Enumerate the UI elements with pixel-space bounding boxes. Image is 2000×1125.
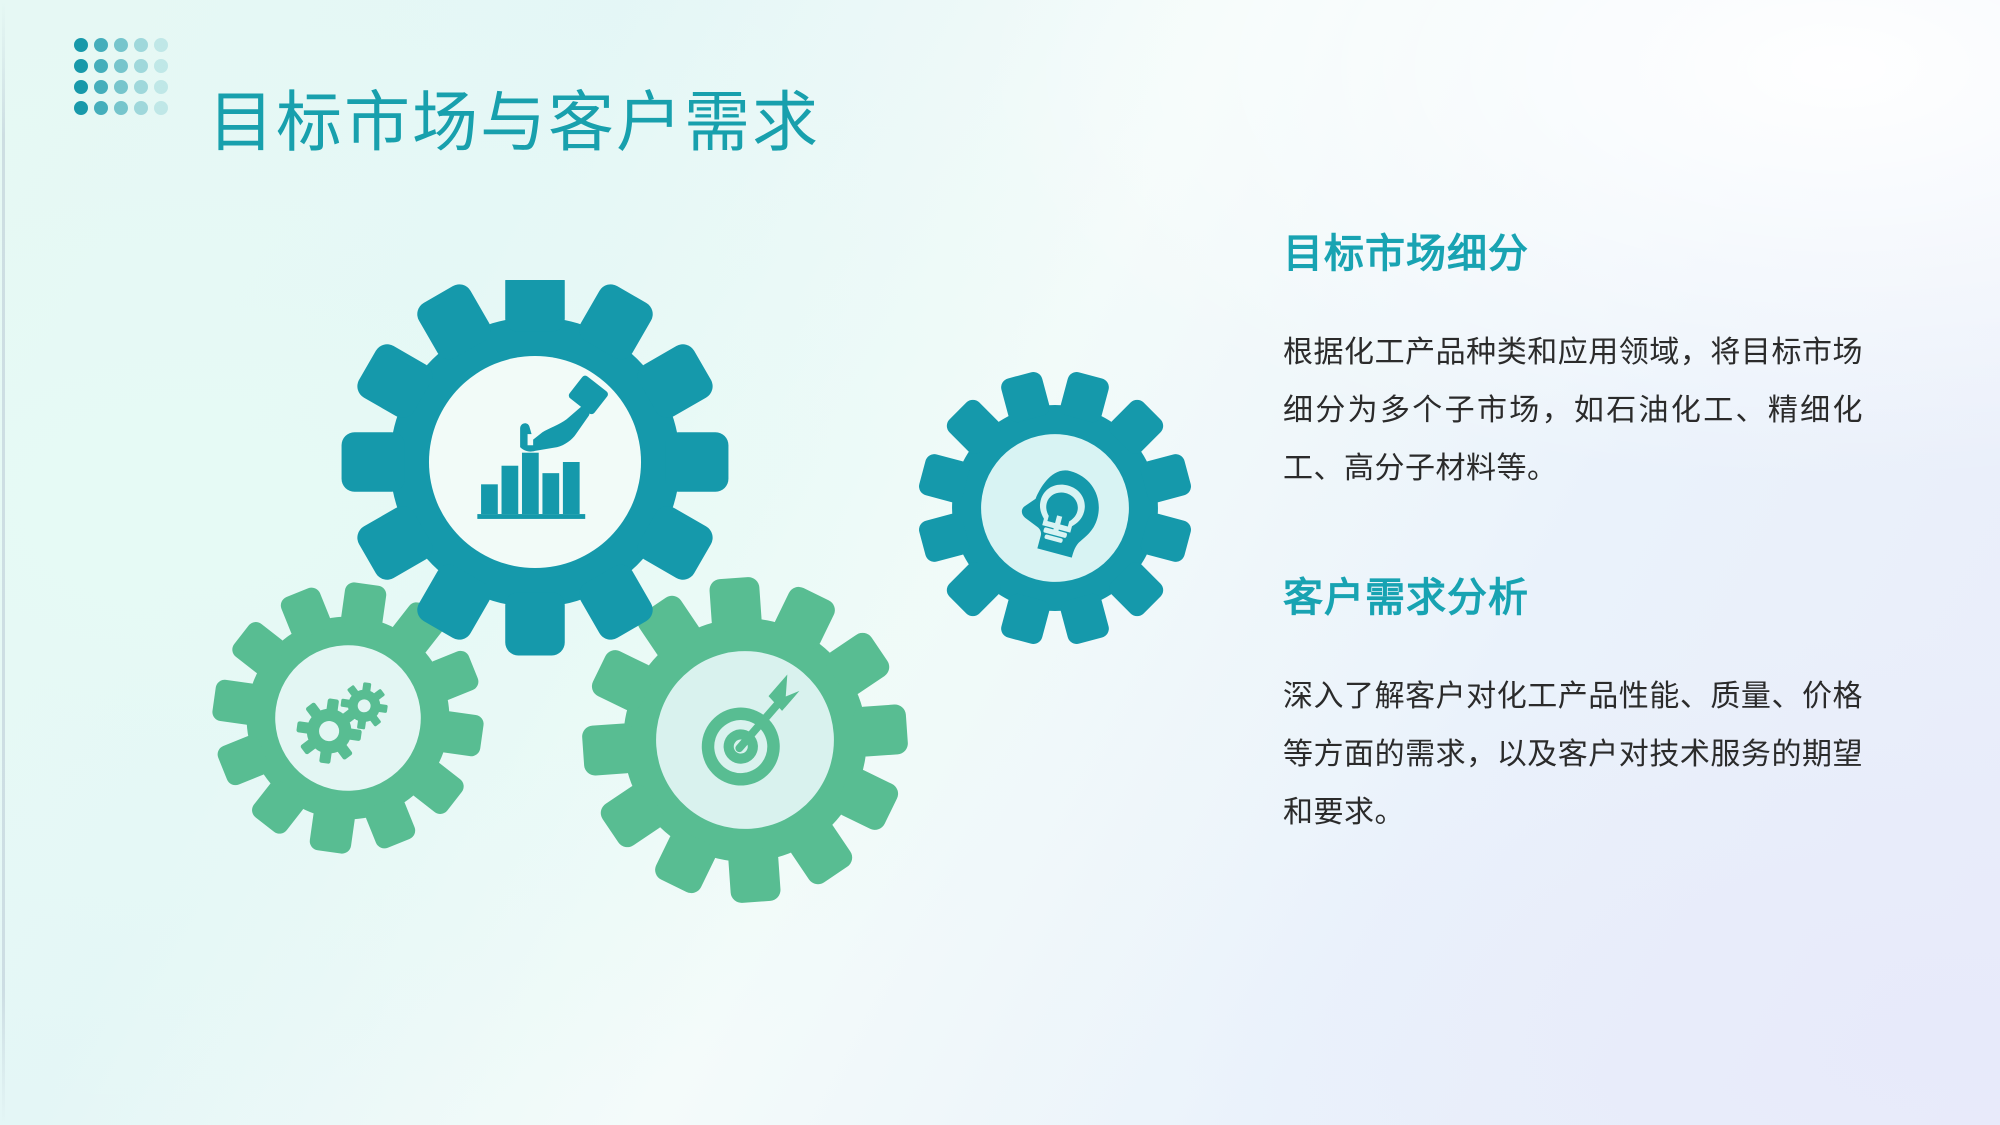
gears-illustration xyxy=(200,280,1260,980)
gear-idea xyxy=(887,340,1223,676)
content-section-market-segmentation: 目标市场细分 根据化工产品种类和应用领域，将目标市场细分为多个子市场，如石油化工… xyxy=(1283,228,1863,498)
dot-grid-decoration-icon xyxy=(74,38,174,122)
slide-header: 目标市场与客户需求 xyxy=(0,0,2000,170)
section-heading: 客户需求分析 xyxy=(1283,572,1863,624)
section-body: 根据化工产品种类和应用领域，将目标市场细分为多个子市场，如石油化工、精细化工、高… xyxy=(1283,324,1863,498)
section-body: 深入了解客户对化工产品性能、质量、价格等方面的需求，以及客户对技术服务的期望和要… xyxy=(1283,668,1863,842)
slide-root: 目标市场与客户需求 xyxy=(0,0,2000,1125)
content-section-customer-needs: 客户需求分析 深入了解客户对化工产品性能、质量、价格等方面的需求，以及客户对技术… xyxy=(1283,572,1863,842)
page-title: 目标市场与客户需求 xyxy=(208,82,820,166)
content-column: 目标市场细分 根据化工产品种类和应用领域，将目标市场细分为多个子市场，如石油化工… xyxy=(1283,228,1863,842)
section-heading: 目标市场细分 xyxy=(1283,228,1863,280)
